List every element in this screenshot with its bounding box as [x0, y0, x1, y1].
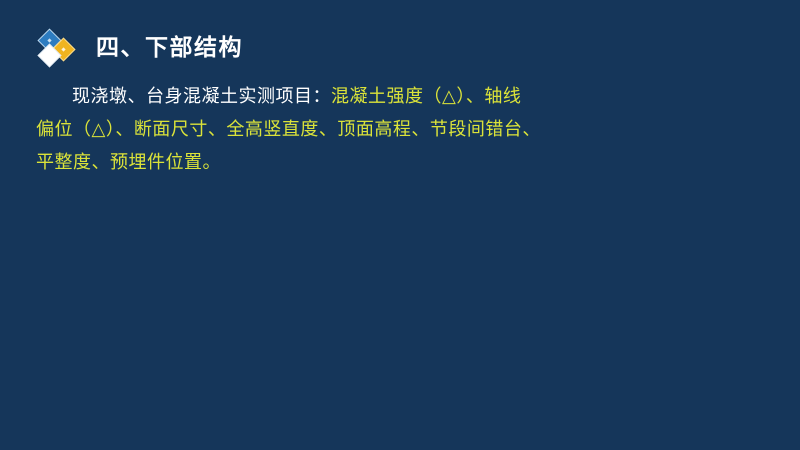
slide-canvas: 四、下部结构 现浇墩、台身混凝土实测项目：混凝土强度（△）、轴线 偏位（△）、断…: [0, 0, 800, 450]
body-line: 平整度、预埋件位置。: [36, 146, 766, 179]
slide-body-block: 现浇墩、台身混凝土实测项目：混凝土强度（△）、轴线 偏位（△）、断面尺寸、全高竖…: [36, 80, 766, 179]
body-text-segment: 现浇墩、台身混凝土实测项目：: [72, 86, 331, 107]
three-diamonds-icon: [36, 28, 82, 68]
body-line: 偏位（△）、断面尺寸、全高竖直度、顶面高程、节段间错台、: [36, 113, 766, 146]
slide-title-block: 四、下部结构: [36, 28, 243, 68]
body-text-segment-highlight: 混凝土强度（△）、轴线: [331, 86, 521, 107]
body-text-segment-highlight: 平整度、预埋件位置。: [36, 152, 221, 173]
body-text-segment-highlight: 偏位（△）、断面尺寸、全高竖直度、顶面高程、节段间错台、: [36, 119, 541, 140]
page-title: 四、下部结构: [96, 37, 243, 60]
body-line: 现浇墩、台身混凝土实测项目：混凝土强度（△）、轴线: [36, 80, 766, 113]
